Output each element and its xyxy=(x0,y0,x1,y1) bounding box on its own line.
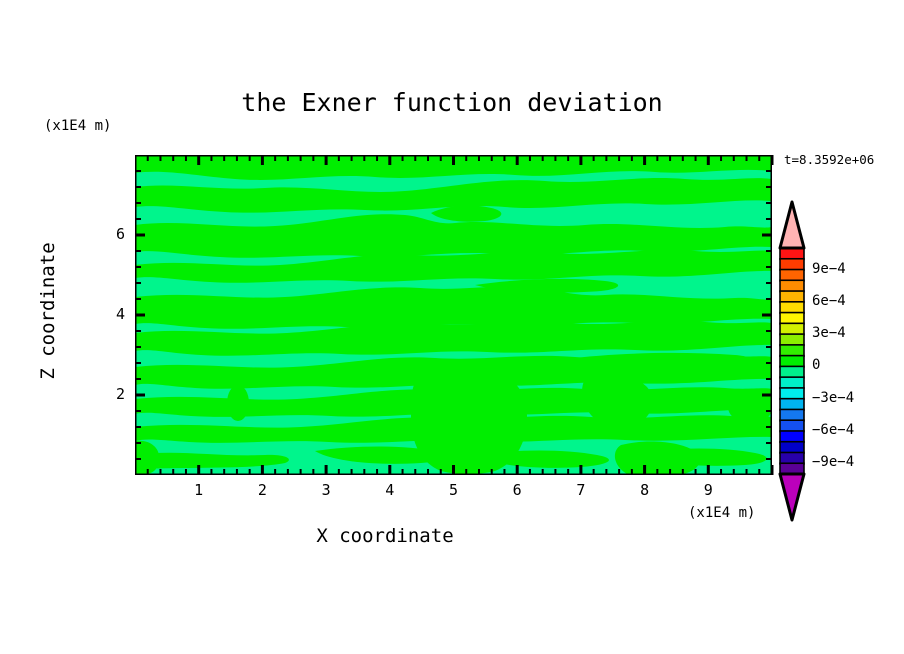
contour-plot-area xyxy=(135,155,772,475)
page-title: the Exner function deviation xyxy=(0,88,904,117)
x-tick-label: 9 xyxy=(688,481,728,499)
x-axis-unit-label: (x1E4 m) xyxy=(688,505,755,521)
y-tick-label: 4 xyxy=(95,305,125,323)
colorbar: 9e−46e−43e−40−3e−4−6e−4−9e−4 xyxy=(778,198,898,524)
colorbar-tick-label: 3e−4 xyxy=(812,325,846,341)
y-tick-label: 2 xyxy=(95,385,125,403)
x-tick-label: 1 xyxy=(179,481,219,499)
y-axis-title: Z coordinate xyxy=(37,201,59,421)
contour-field-svg xyxy=(135,155,772,475)
x-tick-label: 5 xyxy=(434,481,474,499)
colorbar-tick-label: −3e−4 xyxy=(812,390,854,406)
x-tick-label: 2 xyxy=(242,481,282,499)
y-axis-unit-label: (x1E4 m) xyxy=(44,118,111,134)
contour-bands xyxy=(135,155,772,475)
colorbar-tick-label: 0 xyxy=(812,357,820,373)
x-tick-label: 3 xyxy=(306,481,346,499)
x-tick-label: 6 xyxy=(497,481,537,499)
colorbar-tick-label: −6e−4 xyxy=(812,422,854,438)
y-tick-labels: 246 xyxy=(95,155,131,475)
colorbar-tick-label: 9e−4 xyxy=(812,261,846,277)
colorbar-tick-label: 6e−4 xyxy=(812,293,846,309)
x-axis-title: X coordinate xyxy=(0,525,770,547)
x-tick-labels: 123456789 xyxy=(135,481,772,505)
x-tick-label: 7 xyxy=(561,481,601,499)
colorbar-tick-label: −9e−4 xyxy=(812,454,854,470)
timestamp-label: t=8.3592e+06 xyxy=(784,152,874,167)
x-tick-label: 8 xyxy=(625,481,665,499)
x-tick-label: 4 xyxy=(370,481,410,499)
y-tick-label: 6 xyxy=(95,225,125,243)
